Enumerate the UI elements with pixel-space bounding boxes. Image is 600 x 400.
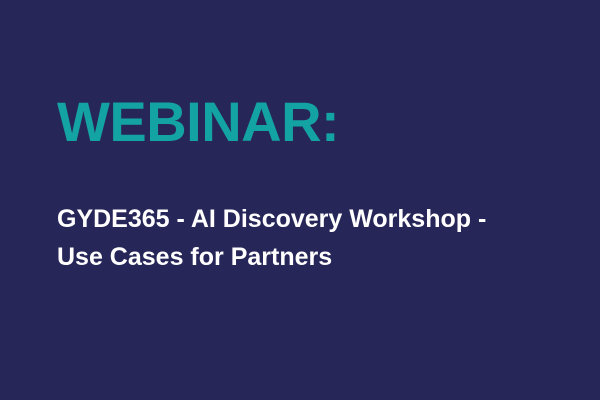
webinar-promo-card: WEBINAR: GYDE365 - AI Discovery Workshop… xyxy=(0,0,600,400)
promo-content: WEBINAR: GYDE365 - AI Discovery Workshop… xyxy=(57,0,560,400)
page-title: GYDE365 - AI Discovery Workshop - Use Ca… xyxy=(57,200,537,276)
eyebrow-label: WEBINAR: xyxy=(57,94,339,150)
